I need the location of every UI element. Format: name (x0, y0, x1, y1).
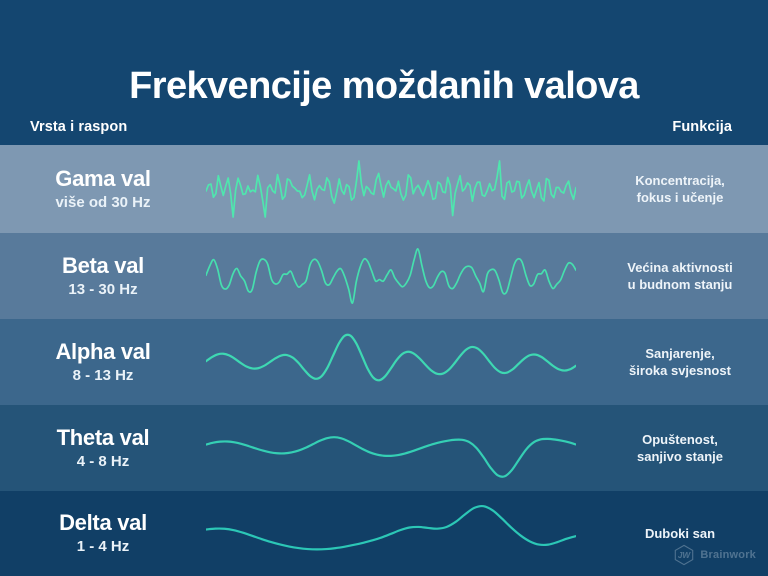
wave-function-line: Većina aktivnosti (594, 259, 766, 276)
column-header-type-range: Vrsta i raspon (30, 119, 127, 135)
wave-label: Alpha val8 - 13 Hz (0, 339, 200, 386)
wave-function-line: Opuštenost, (594, 431, 766, 448)
wave-function-line: široka svjesnost (594, 362, 766, 379)
wave-function: Sanjarenje,široka svjesnost (582, 345, 768, 379)
waveform-graphic (200, 405, 582, 491)
column-header-function: Funkcija (672, 119, 732, 135)
hexagon-monogram-icon: JW (673, 544, 695, 566)
wave-function: Opuštenost,sanjivo stanje (582, 431, 768, 465)
wave-label: Delta val1 - 4 Hz (0, 510, 200, 557)
wave-function-line: u budnom stanju (594, 276, 766, 293)
wave-frequency-range: više od 30 Hz (6, 193, 200, 213)
wave-function: Koncentracija,fokus i učenje (582, 172, 768, 206)
wave-row: Beta val13 - 30 HzVećina aktivnostiu bud… (0, 233, 768, 319)
wave-function: Duboki san (582, 525, 768, 542)
waveform-graphic (200, 145, 582, 233)
wave-name: Theta val (6, 425, 200, 451)
wave-function-line: Sanjarenje, (594, 345, 766, 362)
wave-label: Beta val13 - 30 Hz (0, 253, 200, 300)
wave-name: Delta val (6, 510, 200, 536)
brainwave-frequency-infographic: Frekvencije moždanih valova Vrsta i rasp… (0, 0, 768, 576)
waveform-graphic (200, 491, 582, 576)
wave-name: Alpha val (6, 339, 200, 365)
waveform-graphic (200, 319, 582, 405)
column-headers: Vrsta i raspon Funkcija (0, 119, 768, 145)
wave-frequency-range: 13 - 30 Hz (6, 280, 200, 300)
wave-row: Delta val1 - 4 HzDuboki san (0, 491, 768, 576)
svg-text:JW: JW (678, 551, 692, 560)
wave-function-line: sanjivo stanje (594, 448, 766, 465)
wave-name: Gama val (6, 166, 200, 192)
wave-function-line: fokus i učenje (594, 189, 766, 206)
wave-row: Theta val4 - 8 HzOpuštenost,sanjivo stan… (0, 405, 768, 491)
wave-label: Gama valviše od 30 Hz (0, 166, 200, 213)
wave-frequency-range: 1 - 4 Hz (6, 537, 200, 557)
logo-text: Brainwork (700, 549, 756, 561)
waveform-graphic (200, 233, 582, 319)
page-title: Frekvencije moždanih valova (0, 63, 768, 109)
wave-label: Theta val4 - 8 Hz (0, 425, 200, 472)
wave-name: Beta val (6, 253, 200, 279)
wave-frequency-range: 8 - 13 Hz (6, 366, 200, 386)
wave-function: Većina aktivnostiu budnom stanju (582, 259, 768, 293)
wave-rows: Gama valviše od 30 HzKoncentracija,fokus… (0, 145, 768, 576)
wave-function-line: Koncentracija, (594, 172, 766, 189)
wave-function-line: Duboki san (594, 525, 766, 542)
wave-frequency-range: 4 - 8 Hz (6, 452, 200, 472)
wave-row: Gama valviše od 30 HzKoncentracija,fokus… (0, 145, 768, 233)
brainwork-logo: JW Brainwork (673, 544, 756, 566)
wave-row: Alpha val8 - 13 HzSanjarenje,široka svje… (0, 319, 768, 405)
